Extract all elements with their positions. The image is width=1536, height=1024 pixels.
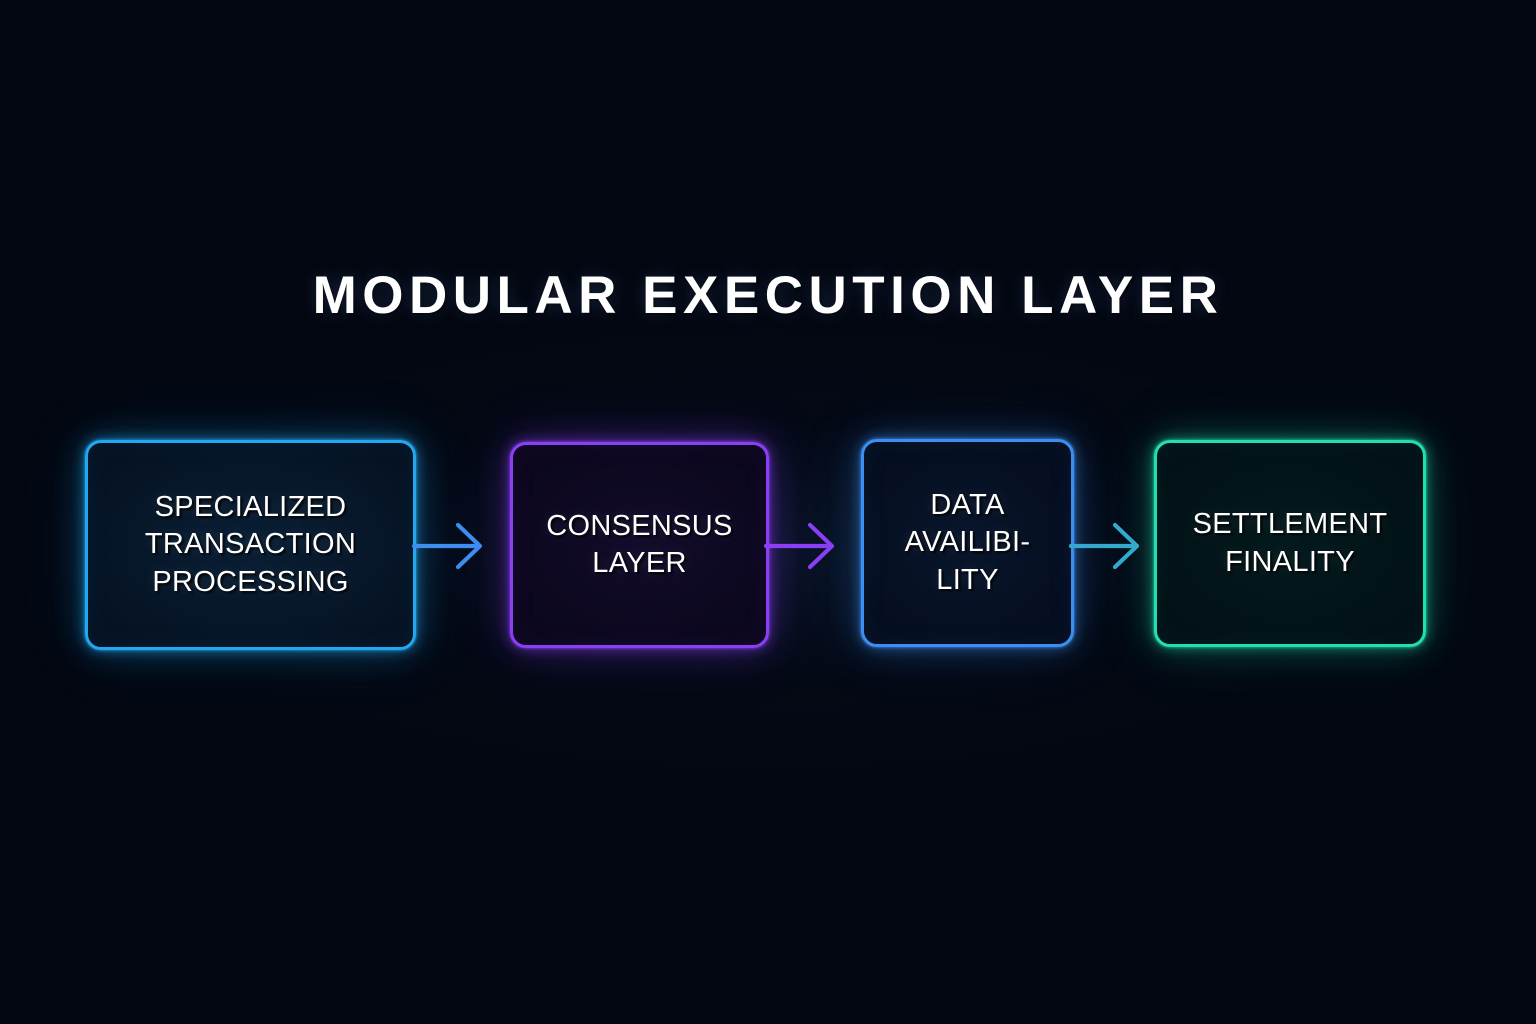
arrow-right-icon-1 — [414, 513, 492, 579]
flow-node-label: DATA AVAILIBI- LITY — [895, 487, 1041, 598]
page-title: MODULAR EXECUTION LAYER — [0, 269, 1536, 322]
flow-node-data-availibility[interactable]: DATA AVAILIBI- LITY — [861, 439, 1074, 647]
flow-node-label: SETTLEMENT FINALITY — [1183, 506, 1398, 580]
arrow-right-icon-3 — [1071, 513, 1149, 579]
flow-node-consensus-layer[interactable]: CONSENSUS LAYER — [510, 442, 769, 648]
flow-node-label: SPECIALIZED TRANSACTION PROCESSING — [135, 489, 366, 600]
arrow-right-icon-2 — [766, 513, 844, 579]
flow-node-label: CONSENSUS LAYER — [536, 508, 742, 582]
diagram-canvas: MODULAR EXECUTION LAYER SPECIALIZED TRAN… — [0, 0, 1536, 1024]
flow-node-settlement-finality[interactable]: SETTLEMENT FINALITY — [1154, 440, 1426, 647]
flow-node-specialized-transaction-processing[interactable]: SPECIALIZED TRANSACTION PROCESSING — [85, 440, 416, 650]
